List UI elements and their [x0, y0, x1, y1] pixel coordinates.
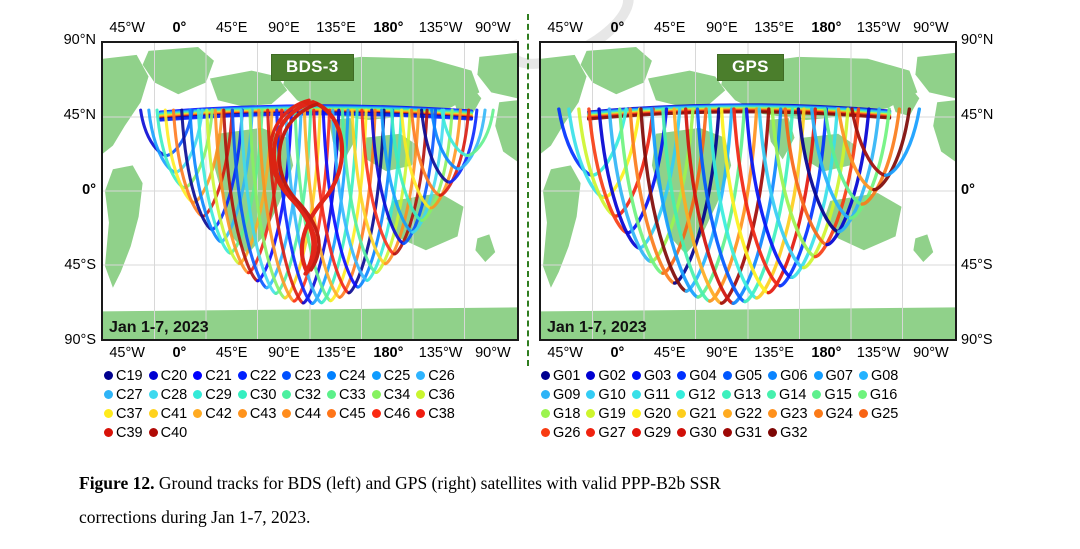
y-tick-label: 45°N	[0, 107, 96, 123]
legend-color-dot	[327, 390, 336, 399]
legend-item[interactable]: G22	[723, 406, 768, 422]
legend-item[interactable]: C23	[282, 368, 327, 384]
legend-color-dot	[768, 428, 777, 437]
legend-color-dot	[723, 409, 732, 418]
legend-color-dot	[859, 371, 868, 380]
legend-item[interactable]: C26	[416, 368, 461, 384]
legend-color-dot	[104, 390, 113, 399]
legend-label: G25	[871, 406, 898, 422]
x-tick-label: 90°W	[475, 20, 511, 36]
legend-label: C41	[161, 406, 188, 422]
legend-item[interactable]: G18	[541, 406, 586, 422]
legend-color-dot	[677, 409, 686, 418]
legend-item[interactable]: G04	[677, 368, 722, 384]
legend-label: C26	[428, 368, 455, 384]
legend-label: C29	[205, 387, 232, 403]
legend-label: G01	[553, 368, 580, 384]
legend-item[interactable]: G21	[677, 406, 722, 422]
legend-item[interactable]: C45	[327, 406, 372, 422]
legend-item[interactable]: G06	[768, 368, 813, 384]
x-tick-label: 135°E	[754, 20, 794, 36]
legend-item[interactable]: C41	[149, 406, 194, 422]
legend-label: G06	[780, 368, 807, 384]
x-tick-label: 0°	[172, 20, 186, 36]
legend-label: G21	[689, 406, 716, 422]
legend-color-dot	[541, 428, 550, 437]
x-tick-label: 0°	[610, 345, 624, 361]
legend-color-dot	[632, 409, 641, 418]
world-map-gps	[541, 43, 955, 339]
legend-label: C34	[384, 387, 411, 403]
legend-color-dot	[814, 409, 823, 418]
legend-label: C22	[250, 368, 277, 384]
legend-item[interactable]: G05	[723, 368, 768, 384]
panel-date-bds: Jan 1-7, 2023	[107, 318, 211, 337]
legend-row: G01G02G03G04G05G06G07G08	[541, 366, 956, 385]
x-tick-label: 135°E	[316, 20, 356, 36]
legend-label: G10	[598, 387, 625, 403]
legend-color-dot	[149, 428, 158, 437]
legend-color-dot	[768, 371, 777, 380]
legend-color-dot	[586, 371, 595, 380]
legend-item[interactable]: C44	[282, 406, 327, 422]
legend-color-dot	[327, 371, 336, 380]
legend-label: G15	[824, 387, 851, 403]
legend-color-dot	[677, 371, 686, 380]
legend-item[interactable]: G10	[586, 387, 631, 403]
x-tick-label: 180°	[373, 20, 403, 36]
x-tick-label: 90°W	[913, 20, 949, 36]
legend-label: G11	[644, 387, 670, 403]
x-tick-label: 90°W	[913, 345, 949, 361]
x-tick-label: 90°W	[475, 345, 511, 361]
legend-label: C20	[161, 368, 188, 384]
legend-item[interactable]: G15	[812, 387, 857, 403]
legend-item[interactable]: G11	[632, 387, 676, 403]
legend-color-dot	[104, 409, 113, 418]
legend-item[interactable]: G01	[541, 368, 586, 384]
map-panel-bds[interactable]: BDS-3 Jan 1-7, 2023	[101, 41, 519, 341]
legend-color-dot	[541, 390, 550, 399]
legend-label: G27	[598, 425, 625, 441]
legend-color-dot	[372, 390, 381, 399]
legend-color-dot	[282, 390, 291, 399]
legend-label: G19	[598, 406, 625, 422]
legend-color-dot	[632, 371, 641, 380]
legend-item[interactable]: G09	[541, 387, 586, 403]
legend-item[interactable]: G02	[586, 368, 631, 384]
panel-title-bds: BDS-3	[271, 54, 354, 81]
legend-label: C27	[116, 387, 143, 403]
legend-item[interactable]: C39	[104, 425, 149, 441]
legend-label: C45	[339, 406, 366, 422]
y-tick-label: 45°N	[961, 107, 993, 123]
legend-item[interactable]: C20	[149, 368, 194, 384]
legend-color-dot	[238, 390, 247, 399]
legend-item[interactable]: C40	[149, 425, 194, 441]
legend-label: G07	[826, 368, 853, 384]
legend-item[interactable]: C33	[327, 387, 372, 403]
panel-divider	[527, 14, 529, 366]
legend-row: C19C20C21C22C23C24C25C26	[104, 366, 519, 385]
legend-item[interactable]: C19	[104, 368, 149, 384]
legend-color-dot	[676, 390, 685, 399]
legend-color-dot	[723, 428, 732, 437]
legend-row: G09G10G11G12G13G14G15G16	[541, 385, 956, 404]
legend-gps: G01G02G03G04G05G06G07G08G09G10G11G12G13G…	[541, 366, 956, 442]
legend-item[interactable]: C21	[193, 368, 238, 384]
x-tick-label: 45°E	[654, 345, 686, 361]
y-tick-label: 45°S	[0, 257, 96, 273]
legend-label: C36	[428, 387, 455, 403]
legend-item[interactable]: G14	[767, 387, 812, 403]
x-tick-label: 90°E	[706, 20, 738, 36]
x-tick-label: 45°E	[216, 345, 248, 361]
legend-item[interactable]: G32	[768, 425, 813, 441]
legend-color-dot	[149, 371, 158, 380]
x-tick-label: 45°E	[654, 20, 686, 36]
legend-label: G08	[871, 368, 898, 384]
legend-item[interactable]: C28	[149, 387, 194, 403]
legend-color-dot	[416, 409, 425, 418]
legend-label: C24	[339, 368, 366, 384]
legend-label: C42	[205, 406, 232, 422]
y-tick-label: 0°	[961, 182, 975, 198]
x-tick-label: 45°W	[109, 345, 145, 361]
legend-item[interactable]: G19	[586, 406, 631, 422]
legend-color-dot	[586, 428, 595, 437]
legend-item[interactable]: G30	[677, 425, 722, 441]
legend-item[interactable]: C34	[372, 387, 417, 403]
legend-label: C39	[116, 425, 143, 441]
y-tick-label: 0°	[0, 182, 96, 198]
legend-color-dot	[327, 409, 336, 418]
x-tick-label: 180°	[811, 20, 841, 36]
legend-item[interactable]: C25	[372, 368, 417, 384]
legend-color-dot	[372, 371, 381, 380]
legend-label: G18	[553, 406, 580, 422]
legend-item[interactable]: G20	[632, 406, 677, 422]
legend-color-dot	[282, 371, 291, 380]
x-tick-label: 45°W	[547, 20, 583, 36]
figure-caption: Figure 12. Ground tracks for BDS (left) …	[79, 466, 1001, 534]
legend-item[interactable]: C32	[282, 387, 327, 403]
x-tick-label: 135°W	[857, 345, 901, 361]
legend-item[interactable]: C42	[193, 406, 238, 422]
legend-color-dot	[632, 428, 641, 437]
legend-label: G13	[734, 387, 761, 403]
legend-color-dot	[812, 390, 821, 399]
x-tick-label: 180°	[811, 345, 841, 361]
x-tick-label: 0°	[172, 345, 186, 361]
legend-label: C23	[294, 368, 321, 384]
legend-label: G32	[780, 425, 807, 441]
legend-color-dot	[586, 390, 595, 399]
legend-color-dot	[416, 371, 425, 380]
legend-color-dot	[586, 409, 595, 418]
legend-label: G12	[688, 387, 715, 403]
legend-item[interactable]: G24	[814, 406, 859, 422]
y-tick-label: 45°S	[961, 257, 993, 273]
y-tick-label: 90°N	[961, 32, 993, 48]
x-tick-label: 45°W	[109, 20, 145, 36]
legend-label: C46	[384, 406, 411, 422]
legend-label: G29	[644, 425, 671, 441]
legend-color-dot	[541, 409, 550, 418]
legend-label: G26	[553, 425, 580, 441]
legend-color-dot	[722, 390, 731, 399]
legend-label: G09	[553, 387, 580, 403]
legend-color-dot	[149, 390, 158, 399]
legend-label: C32	[294, 387, 321, 403]
x-tick-label: 135°E	[754, 345, 794, 361]
x-tick-label: 45°W	[547, 345, 583, 361]
legend-item[interactable]: C22	[238, 368, 283, 384]
legend-color-dot	[859, 409, 868, 418]
legend-color-dot	[193, 409, 202, 418]
legend-item[interactable]: C24	[327, 368, 372, 384]
x-tick-label: 180°	[373, 345, 403, 361]
legend-color-dot	[416, 390, 425, 399]
legend-item[interactable]: C46	[372, 406, 417, 422]
legend-color-dot	[149, 409, 158, 418]
legend-color-dot	[723, 371, 732, 380]
legend-bds: C19C20C21C22C23C24C25C26C27C28C29C30C32C…	[104, 366, 519, 442]
legend-label: G24	[826, 406, 853, 422]
legend-color-dot	[541, 371, 550, 380]
legend-label: C21	[205, 368, 232, 384]
legend-color-dot	[768, 409, 777, 418]
y-tick-label: 90°S	[961, 332, 993, 348]
legend-color-dot	[677, 428, 686, 437]
legend-color-dot	[814, 371, 823, 380]
legend-label: G14	[779, 387, 806, 403]
legend-label: C40	[161, 425, 188, 441]
legend-item[interactable]: G26	[541, 425, 586, 441]
x-tick-label: 90°E	[268, 345, 300, 361]
legend-item[interactable]: G08	[859, 368, 904, 384]
legend-item[interactable]: G25	[859, 406, 904, 422]
legend-label: G03	[644, 368, 671, 384]
legend-item[interactable]: G31	[723, 425, 768, 441]
legend-item[interactable]: G29	[632, 425, 677, 441]
legend-label: G23	[780, 406, 807, 422]
legend-item[interactable]: C30	[238, 387, 283, 403]
legend-item[interactable]: C36	[416, 387, 461, 403]
legend-item[interactable]: C43	[238, 406, 283, 422]
legend-color-dot	[104, 428, 113, 437]
map-panel-gps[interactable]: GPS Jan 1-7, 2023	[539, 41, 957, 341]
legend-item[interactable]: C27	[104, 387, 149, 403]
legend-color-dot	[238, 409, 247, 418]
x-tick-label: 45°E	[216, 20, 248, 36]
legend-color-dot	[372, 409, 381, 418]
legend-color-dot	[238, 371, 247, 380]
legend-item[interactable]: G13	[722, 387, 767, 403]
y-tick-label: 90°N	[0, 32, 96, 48]
legend-color-dot	[104, 371, 113, 380]
legend-label: C30	[250, 387, 277, 403]
panel-date-gps: Jan 1-7, 2023	[545, 318, 649, 337]
legend-label: C19	[116, 368, 143, 384]
legend-item[interactable]: G23	[768, 406, 813, 422]
legend-row: C37C41C42C43C44C45C46C38	[104, 404, 519, 423]
x-tick-label: 135°W	[857, 20, 901, 36]
legend-item[interactable]: G03	[632, 368, 677, 384]
x-tick-label: 135°W	[419, 20, 463, 36]
world-map-bds	[103, 43, 517, 339]
legend-item[interactable]: G27	[586, 425, 631, 441]
legend-label: G04	[689, 368, 716, 384]
legend: C19C20C21C22C23C24C25C26C27C28C29C30C32C…	[0, 366, 1080, 442]
legend-row: G26G27G29G30G31G32	[541, 423, 956, 442]
legend-color-dot	[767, 390, 776, 399]
legend-item[interactable]: C29	[193, 387, 238, 403]
legend-label: G22	[735, 406, 762, 422]
legend-label: C38	[428, 406, 455, 422]
figure-number: Figure 12.	[79, 473, 155, 493]
x-tick-label: 0°	[610, 20, 624, 36]
legend-color-dot	[632, 390, 641, 399]
legend-item[interactable]: G16	[858, 387, 903, 403]
legend-label: C28	[161, 387, 188, 403]
legend-color-dot	[858, 390, 867, 399]
caption-line-2: corrections during Jan 1-7, 2023.	[79, 500, 1001, 534]
legend-color-dot	[282, 409, 291, 418]
legend-label: G30	[689, 425, 716, 441]
x-tick-label: 90°E	[268, 20, 300, 36]
legend-label: C44	[294, 406, 321, 422]
legend-label: C25	[384, 368, 411, 384]
legend-item[interactable]: C38	[416, 406, 461, 422]
caption-line-1: Ground tracks for BDS (left) and GPS (ri…	[159, 473, 721, 493]
x-tick-label: 135°E	[316, 345, 356, 361]
legend-item[interactable]: C37	[104, 406, 149, 422]
x-tick-label: 90°E	[706, 345, 738, 361]
legend-row: C39C40	[104, 423, 519, 442]
legend-label: G31	[735, 425, 762, 441]
legend-row: G18G19G20G21G22G23G24G25	[541, 404, 956, 423]
legend-label: G02	[598, 368, 625, 384]
legend-color-dot	[193, 371, 202, 380]
legend-label: G20	[644, 406, 671, 422]
y-tick-label: 90°S	[0, 332, 96, 348]
x-tick-label: 135°W	[419, 345, 463, 361]
legend-label: G16	[870, 387, 897, 403]
legend-label: C37	[116, 406, 143, 422]
legend-label: G05	[735, 368, 762, 384]
legend-row: C27C28C29C30C32C33C34C36	[104, 385, 519, 404]
legend-label: C33	[339, 387, 366, 403]
legend-item[interactable]: G07	[814, 368, 859, 384]
legend-label: C43	[250, 406, 277, 422]
panel-title-gps: GPS	[717, 54, 784, 81]
legend-color-dot	[193, 390, 202, 399]
legend-item[interactable]: G12	[676, 387, 721, 403]
